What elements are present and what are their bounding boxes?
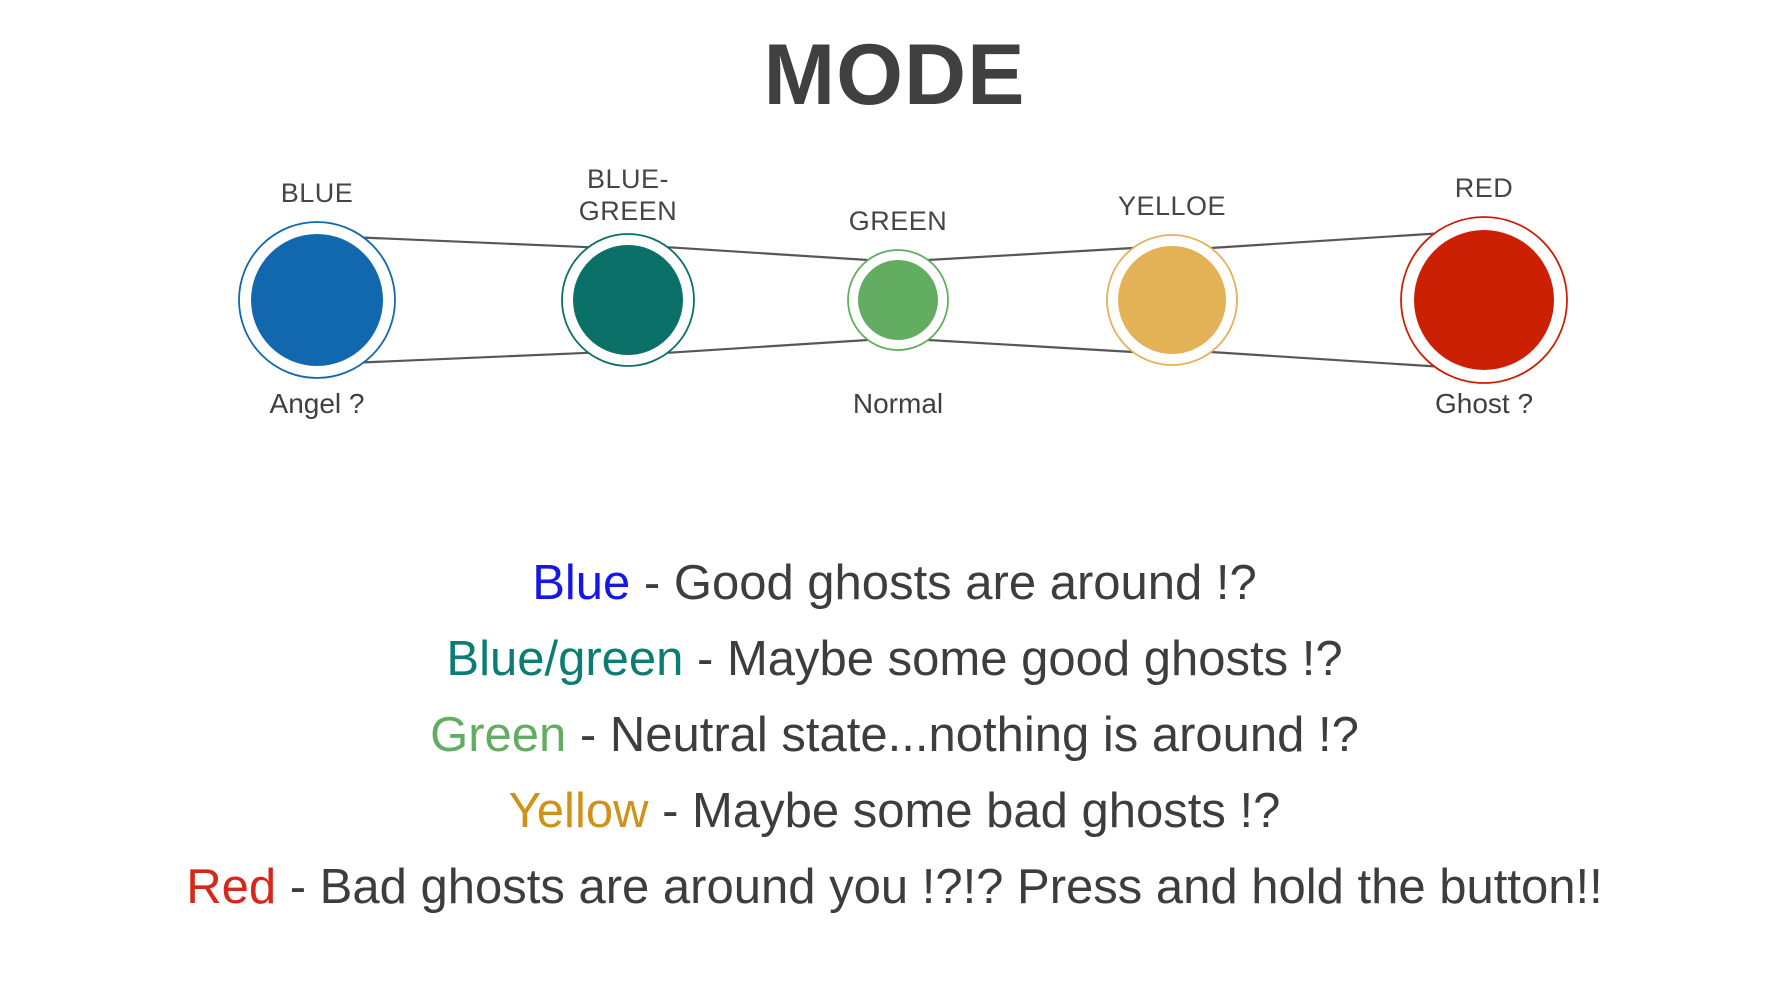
legend-line-4: Red - Bad ghosts are around you !?!? Pre… — [0, 849, 1789, 925]
node-disc-red[interactable] — [1414, 230, 1554, 370]
node-label-red: RED — [1455, 173, 1514, 203]
legend-key-1: Blue/green — [446, 632, 683, 686]
diagram-node-blue-green[interactable] — [562, 234, 694, 366]
legend-line-0: Blue - Good ghosts are around !? — [0, 545, 1789, 621]
diagram-edge-blue-green-to-green — [668, 247, 868, 260]
mode-diagram-svg: BLUEBLUE-GREENGREENYELLOERED Angel ?Norm… — [0, 160, 1789, 470]
node-label-green: GREEN — [849, 206, 948, 236]
state-label-angel: Angel ? — [270, 388, 365, 419]
diagram-node-green[interactable] — [848, 250, 948, 350]
legend-description-1: - Maybe some good ghosts !? — [683, 632, 1342, 686]
legend-key-2: Green — [430, 708, 566, 762]
node-disc-blue-green[interactable] — [573, 245, 683, 355]
diagram-state-labels: Angel ?NormalGhost ? — [270, 388, 1534, 419]
node-label-yelloe: YELLOE — [1118, 191, 1226, 221]
legend-key-4: Red — [186, 860, 276, 914]
diagram-edge-blue-to-blue-green — [364, 238, 589, 248]
mode-diagram: BLUEBLUE-GREENGREENYELLOERED Angel ?Norm… — [0, 160, 1789, 470]
state-label-ghost: Ghost ? — [1435, 388, 1533, 419]
legend-key-0: Blue — [532, 556, 630, 610]
legend-line-3: Yellow - Maybe some bad ghosts !? — [0, 773, 1789, 849]
node-disc-blue[interactable] — [251, 234, 383, 366]
node-label-line1-yelloe: YELLOE — [1118, 191, 1226, 221]
legend-description-4: - Bad ghosts are around you !?!? Press a… — [276, 860, 1603, 914]
diagram-node-red[interactable] — [1401, 217, 1567, 383]
legend-description-3: - Maybe some bad ghosts !? — [648, 784, 1280, 838]
legend-description-0: - Good ghosts are around !? — [630, 556, 1257, 610]
node-label-blue-green: BLUE-GREEN — [579, 164, 678, 226]
node-label-line1-red: RED — [1455, 173, 1514, 203]
diagram-edge-blue-green-to-green — [668, 340, 868, 353]
node-label-line1-blue: BLUE — [281, 178, 354, 208]
mode-legend: Blue - Good ghosts are around !?Blue/gre… — [0, 545, 1789, 925]
legend-description-2: - Neutral state...nothing is around !? — [566, 708, 1359, 762]
diagram-node-blue[interactable] — [239, 222, 395, 378]
diagram-edge-yelloe-to-red — [1211, 352, 1434, 366]
page-title: MODE — [0, 30, 1789, 120]
diagram-nodes — [239, 217, 1567, 383]
diagram-edge-green-to-yelloe — [928, 248, 1133, 260]
node-label-line2-blue-green: GREEN — [579, 196, 678, 226]
node-label-line1-green: GREEN — [849, 206, 948, 236]
diagram-node-labels: BLUEBLUE-GREENGREENYELLOERED — [281, 164, 1514, 236]
diagram-node-yelloe[interactable] — [1107, 235, 1237, 365]
node-disc-green[interactable] — [858, 260, 938, 340]
node-label-line1-blue-green: BLUE- — [587, 164, 669, 194]
node-disc-yelloe[interactable] — [1118, 246, 1226, 354]
node-label-blue: BLUE — [281, 178, 354, 208]
state-label-normal: Normal — [853, 388, 943, 419]
legend-line-1: Blue/green - Maybe some good ghosts !? — [0, 621, 1789, 697]
legend-line-2: Green - Neutral state...nothing is aroun… — [0, 697, 1789, 773]
legend-key-3: Yellow — [509, 784, 649, 838]
diagram-edge-green-to-yelloe — [928, 340, 1133, 352]
mode-slide: MODE BLUEBLUE-GREENGREENYELLOERED Angel … — [0, 0, 1789, 1000]
diagram-edge-blue-to-blue-green — [364, 353, 589, 363]
diagram-edge-yelloe-to-red — [1211, 234, 1434, 248]
